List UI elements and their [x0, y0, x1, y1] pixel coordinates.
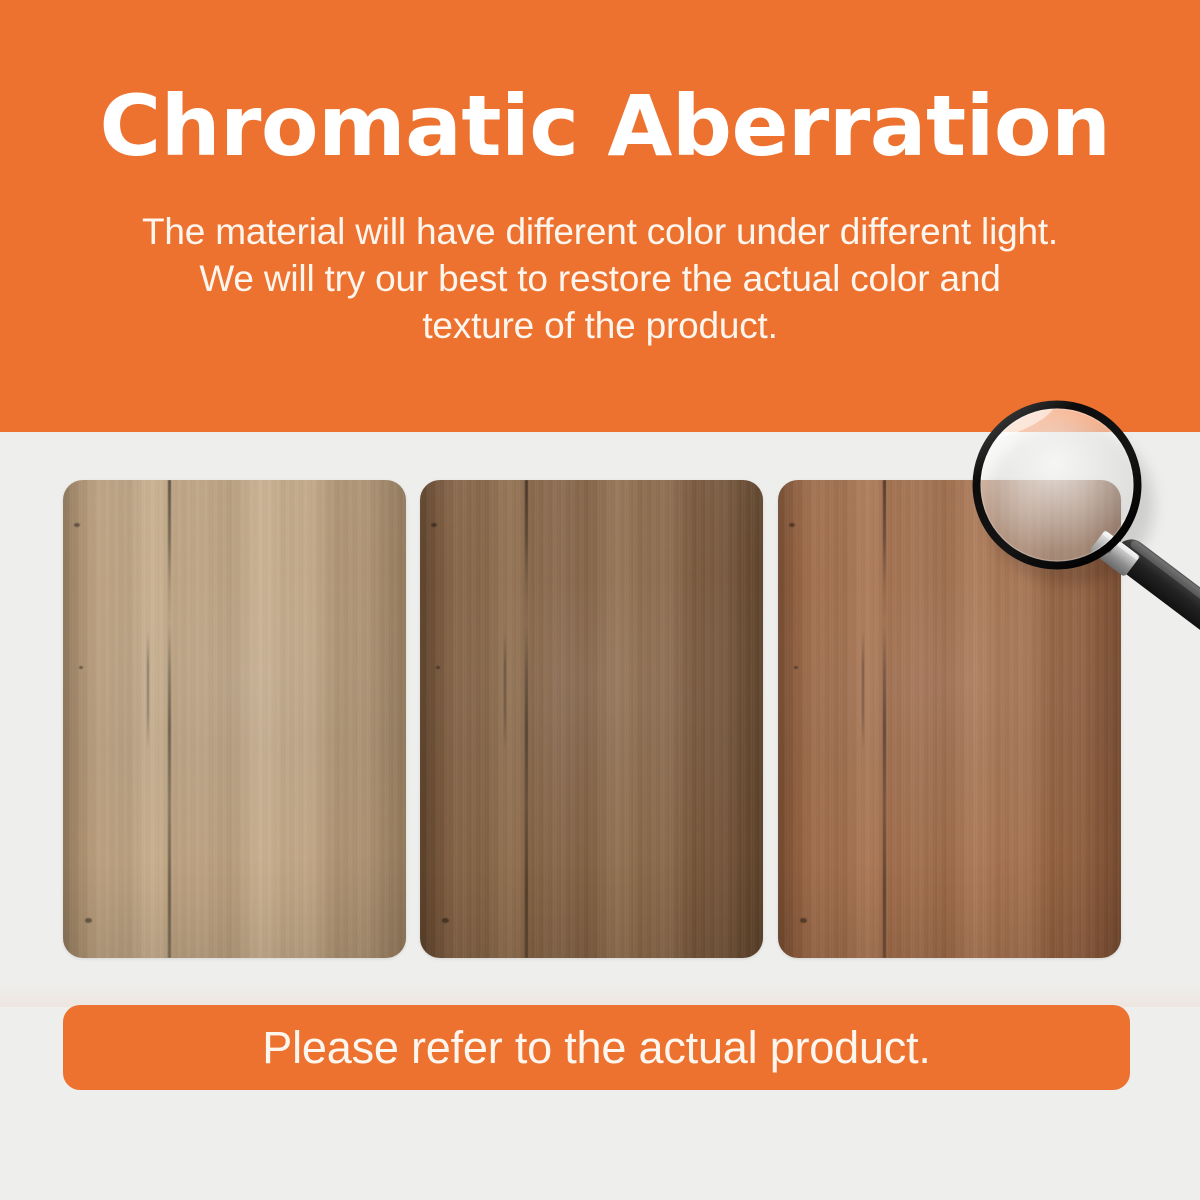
header-band: Chromatic Aberration The material will h…	[0, 0, 1200, 432]
page-title: Chromatic Aberration	[60, 80, 1150, 172]
wood-swatch-light-oak[interactable]	[63, 480, 406, 958]
wood-vignette	[778, 480, 1121, 958]
wood-vignette	[420, 480, 763, 958]
subtitle-line-3: texture of the product.	[60, 302, 1140, 349]
footer-banner[interactable]: Please refer to the actual product.	[63, 1005, 1130, 1090]
subtitle-line-2: We will try our best to restore the actu…	[60, 255, 1140, 302]
wood-swatch-warm-chestnut[interactable]	[778, 480, 1121, 958]
subtitle-line-1: The material will have different color u…	[60, 208, 1140, 255]
banner-tint-strip	[0, 985, 1200, 1007]
chromatic-aberration-infographic: Chromatic Aberration The material will h…	[0, 0, 1200, 1200]
wood-vignette	[63, 480, 406, 958]
wood-swatch-walnut-brown[interactable]	[420, 480, 763, 958]
footer-banner-text: Please refer to the actual product.	[262, 1025, 930, 1070]
header-subtitle: The material will have different color u…	[60, 208, 1140, 349]
